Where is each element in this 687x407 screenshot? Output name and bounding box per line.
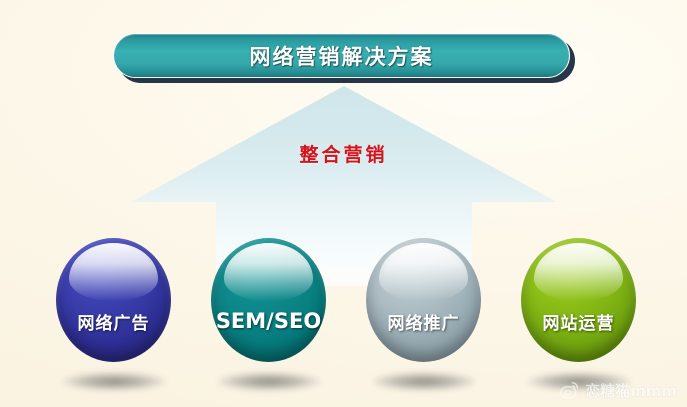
arrow-label: 整合营销 xyxy=(0,140,687,167)
sphere-network-promotion[interactable]: 网络推广 xyxy=(366,238,481,362)
sphere-shadow xyxy=(62,372,166,391)
watermark-text: 恋糖猫mmm xyxy=(585,380,677,401)
up-arrow-shape xyxy=(131,86,557,286)
watermark: 恋糖猫mmm xyxy=(560,380,677,401)
sphere-network-advertising[interactable]: 网络广告 xyxy=(56,238,171,362)
sphere-gloss-highlight xyxy=(534,243,624,301)
sphere-rim-shading xyxy=(211,238,326,362)
slide-canvas: 网络营销解决方案 整合营销 网络广告 SEM/SEO 网络推广 网站运营 xyxy=(0,0,687,407)
title-banner-body: 网络营销解决方案 xyxy=(113,33,570,78)
weibo-eye-icon xyxy=(560,381,579,400)
sphere-label: 网站运营 xyxy=(521,309,636,334)
sphere-rim-shading xyxy=(56,238,171,362)
sphere-rim-shading xyxy=(366,238,481,362)
page-title: 网络营销解决方案 xyxy=(250,41,434,71)
sphere-shadow xyxy=(372,372,476,391)
sphere-label: SEM/SEO xyxy=(211,309,326,333)
title-banner: 网络营销解决方案 xyxy=(113,33,570,78)
sphere-gloss-highlight xyxy=(224,243,314,301)
sphere-website-operation[interactable]: 网站运营 xyxy=(521,238,636,362)
sphere-shadow xyxy=(217,372,321,391)
sphere-gloss-highlight xyxy=(69,243,159,301)
sphere-rim-shading xyxy=(521,238,636,362)
sphere-label: 网络广告 xyxy=(56,309,171,334)
sphere-sem-seo[interactable]: SEM/SEO xyxy=(211,238,326,362)
sphere-gloss-highlight xyxy=(379,243,469,301)
sphere-label: 网络推广 xyxy=(366,309,481,334)
